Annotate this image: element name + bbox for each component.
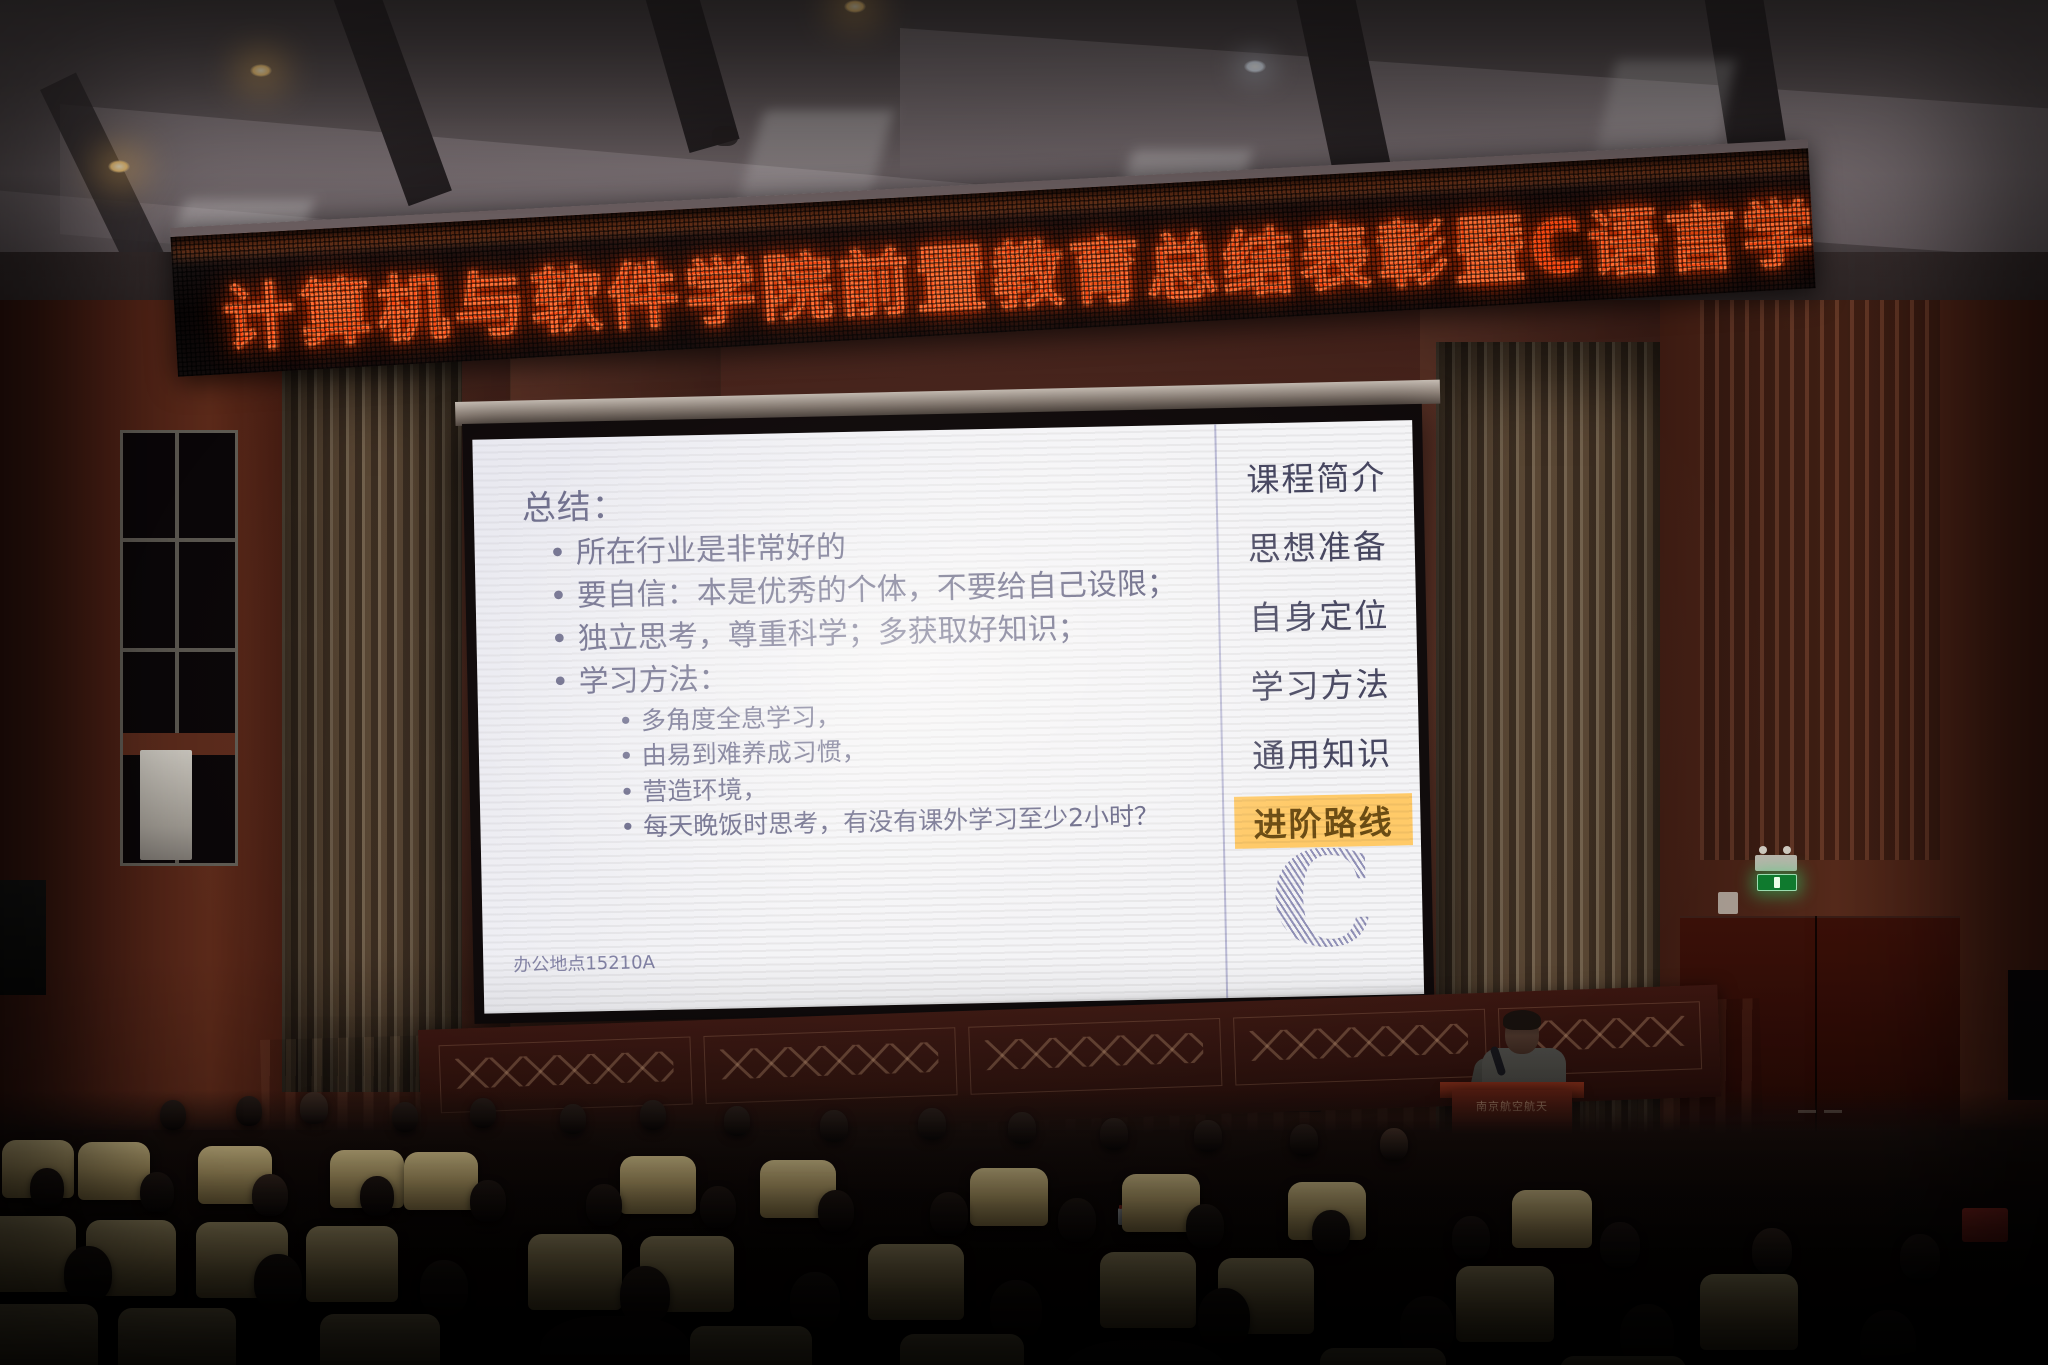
- auditorium-seat: [1560, 1356, 1686, 1365]
- auditorium-seat: [0, 1304, 98, 1365]
- right-wall-slats: [1700, 300, 1940, 860]
- nav-item-advanced-path: 进阶路线: [1234, 793, 1413, 849]
- nav-item-course-intro: 课程简介: [1227, 448, 1406, 504]
- auditorium-seat: [404, 1152, 478, 1210]
- emergency-lamp: [1759, 846, 1793, 854]
- projection-screen: 总结： 所在行业是非常好的 要自信：本是优秀的个体，不要给自己设限； 独立思考，…: [472, 420, 1424, 1014]
- ceiling-downlight: [1244, 60, 1266, 73]
- ceiling-downlight: [844, 0, 866, 13]
- auditorium-seat: [900, 1334, 1024, 1365]
- auditorium-seat: [1320, 1348, 1446, 1365]
- nav-item-study-method: 学习方法: [1231, 655, 1410, 711]
- speaker-hair: [1503, 1010, 1541, 1030]
- white-cabinet: [140, 750, 192, 860]
- wall-switch-plate: [1718, 892, 1738, 914]
- red-object: [1962, 1208, 2008, 1242]
- slide-footer-text: 办公地点15210A: [513, 948, 655, 977]
- ceiling-downlight: [250, 64, 272, 77]
- slide-content: 总结： 所在行业是非常好的 要自信：本是优秀的个体，不要给自己设限； 独立思考，…: [472, 425, 1212, 1014]
- auditorium-seat: [970, 1168, 1048, 1226]
- ceiling-downlight: [108, 160, 130, 173]
- c-language-logo-icon: C: [1269, 847, 1381, 965]
- auditorium-seat: [306, 1226, 398, 1302]
- nav-item-general-knowledge: 通用知识: [1233, 724, 1412, 780]
- stage-curtain-left: [282, 352, 462, 1092]
- ceiling-fixture: [712, 126, 738, 146]
- exit-sign-icon: [1757, 874, 1797, 891]
- auditorium-seat: [528, 1234, 622, 1310]
- nav-item-mindset: 思想准备: [1228, 517, 1407, 573]
- auditorium-seat: [118, 1308, 236, 1365]
- wall-niche: [2008, 970, 2048, 1100]
- auditorium-seat: [690, 1326, 812, 1365]
- auditorium-seat: [1700, 1274, 1798, 1350]
- slide-title: 总结：: [521, 479, 627, 530]
- slide-section-nav: 课程简介 思想准备 自身定位 学习方法 通用知识 进阶路线 C: [1214, 420, 1424, 998]
- slide-bullet-list: 所在行业是非常好的 要自信：本是优秀的个体，不要给自己设限； 独立思考，尊重科学…: [530, 521, 1196, 848]
- auditorium-scene: 总结： 所在行业是非常好的 要自信：本是优秀的个体，不要给自己设限； 独立思考，…: [0, 0, 2048, 1365]
- auditorium-seat: [1100, 1252, 1196, 1328]
- auditorium-seat: [1512, 1190, 1592, 1248]
- auditorium-seat: [1456, 1266, 1554, 1342]
- projection-screen-frame: 总结： 所在行业是非常好的 要自信：本是优秀的个体，不要给自己设限； 独立思考，…: [462, 404, 1434, 1024]
- emergency-light-housing: [1755, 855, 1797, 871]
- pa-speaker-left: [0, 880, 46, 995]
- audience-area: [0, 1090, 2048, 1365]
- auditorium-seat: [320, 1314, 440, 1365]
- auditorium-seat: [620, 1156, 696, 1214]
- nav-item-self-positioning: 自身定位: [1230, 586, 1409, 642]
- auditorium-seat: [868, 1244, 964, 1320]
